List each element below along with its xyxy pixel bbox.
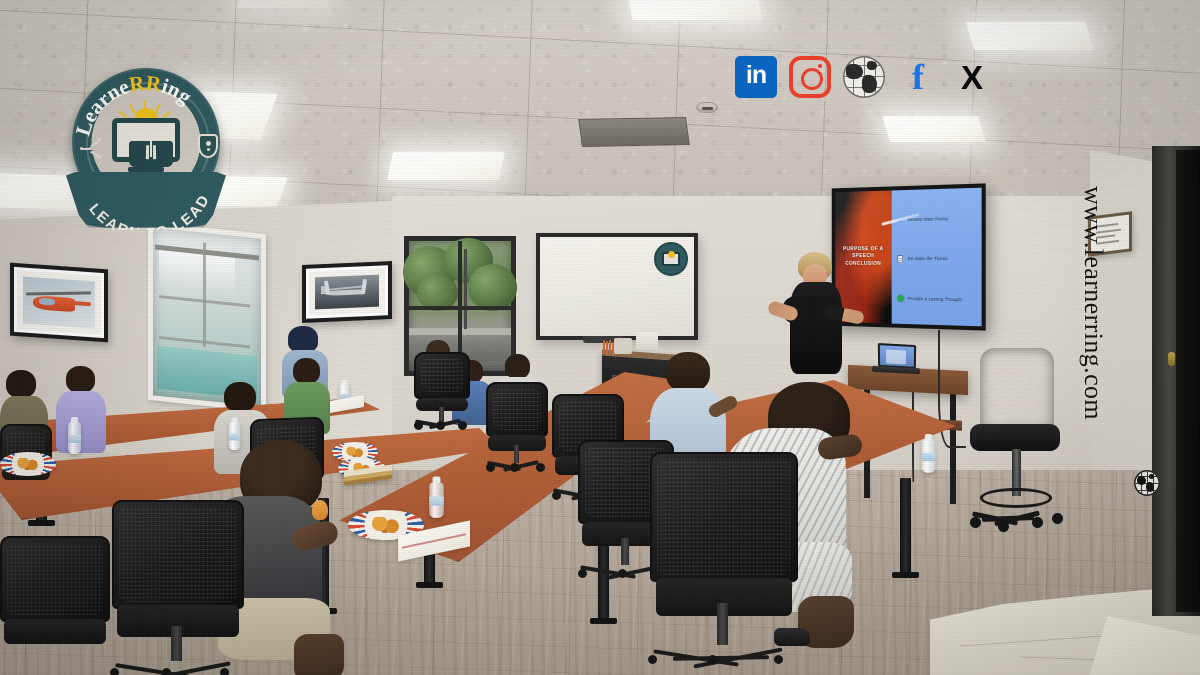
facebook-icon[interactable]: f: [897, 56, 939, 98]
slide-bullet: Provide a Lasting Thought: [896, 294, 976, 305]
office-chair: [486, 382, 548, 470]
whiteboard-logo-icon: [654, 242, 688, 276]
logo-tagline-banner: LEARN TO LEAD: [66, 172, 226, 230]
drafting-chair: [968, 348, 1066, 528]
website-globe-icon[interactable]: [843, 56, 885, 98]
office-chair: [650, 452, 798, 662]
framed-helicopter-photo: [10, 263, 108, 343]
linkedin-icon[interactable]: in: [735, 56, 777, 98]
pen-cup: [602, 340, 614, 354]
node-network-icon: [80, 136, 102, 162]
student-leg: [294, 634, 344, 675]
osprey-image: [315, 275, 379, 310]
tissue-box: [636, 332, 658, 350]
office-chair: [414, 352, 470, 428]
ceiling-light-panel: [628, 0, 763, 20]
x-twitter-icon[interactable]: X: [951, 56, 993, 98]
slide-bullet-text: Re-state the Thesis: [908, 256, 948, 261]
monitor-icon: [112, 110, 180, 168]
office-chair: [0, 536, 110, 675]
food-item: [312, 500, 328, 520]
supply-box: [614, 338, 632, 354]
logo-tagline: LEARN TO LEAD: [85, 191, 213, 230]
shield-icon: [198, 134, 218, 158]
table-leg: [900, 478, 911, 574]
water-bottle: [429, 482, 444, 518]
student-seated: [56, 366, 106, 452]
svg-text:LEARN TO LEAD: LEARN TO LEAD: [85, 191, 213, 230]
learnerring-logo: LearneRRing: [64, 64, 228, 234]
ceiling-vent: [578, 117, 690, 147]
social-icon-row: in f X: [735, 56, 993, 98]
water-bottle: [68, 422, 81, 454]
slide-bullet-text: Provide a Lasting Thought: [908, 296, 962, 302]
chair-backrest: [980, 348, 1054, 431]
water-bottle: [922, 439, 936, 473]
slide-bullets-panel: Review Main Points Re-state the Thesis P…: [891, 188, 981, 327]
slide-bullet: Re-state the Thesis: [896, 254, 976, 263]
laptop: [872, 343, 920, 376]
ceiling-light-panel: [966, 22, 1095, 50]
chair-base: [972, 503, 1060, 525]
office-chair: [112, 500, 244, 675]
helicopter-image: [23, 276, 95, 328]
classroom-photo: PURPOSE OF A SPEECH CONCLUSION Review Ma…: [0, 0, 1200, 675]
cloth-fold: [1086, 616, 1200, 675]
instagram-icon[interactable]: [789, 56, 831, 98]
website-url-wall-text: www.learnerring.com: [1062, 186, 1108, 486]
monitor-frame: [112, 118, 180, 162]
smoke-detector-icon: [696, 102, 718, 113]
globe-icon: [1134, 470, 1160, 496]
framed-osprey-photo: [302, 261, 392, 323]
ceiling-light-panel: [387, 152, 505, 180]
whiteboard: [536, 233, 698, 340]
chair-seat: [970, 424, 1060, 451]
paper-plate: [0, 452, 56, 476]
open-doorway: [1176, 150, 1200, 612]
presenter-standing: [772, 252, 858, 402]
green-dot-icon: [896, 294, 905, 303]
document-icon: [896, 254, 905, 263]
ceiling-light-panel: [882, 116, 985, 142]
door-knob[interactable]: [1168, 352, 1175, 366]
ceiling-light-panel: [238, 0, 333, 8]
